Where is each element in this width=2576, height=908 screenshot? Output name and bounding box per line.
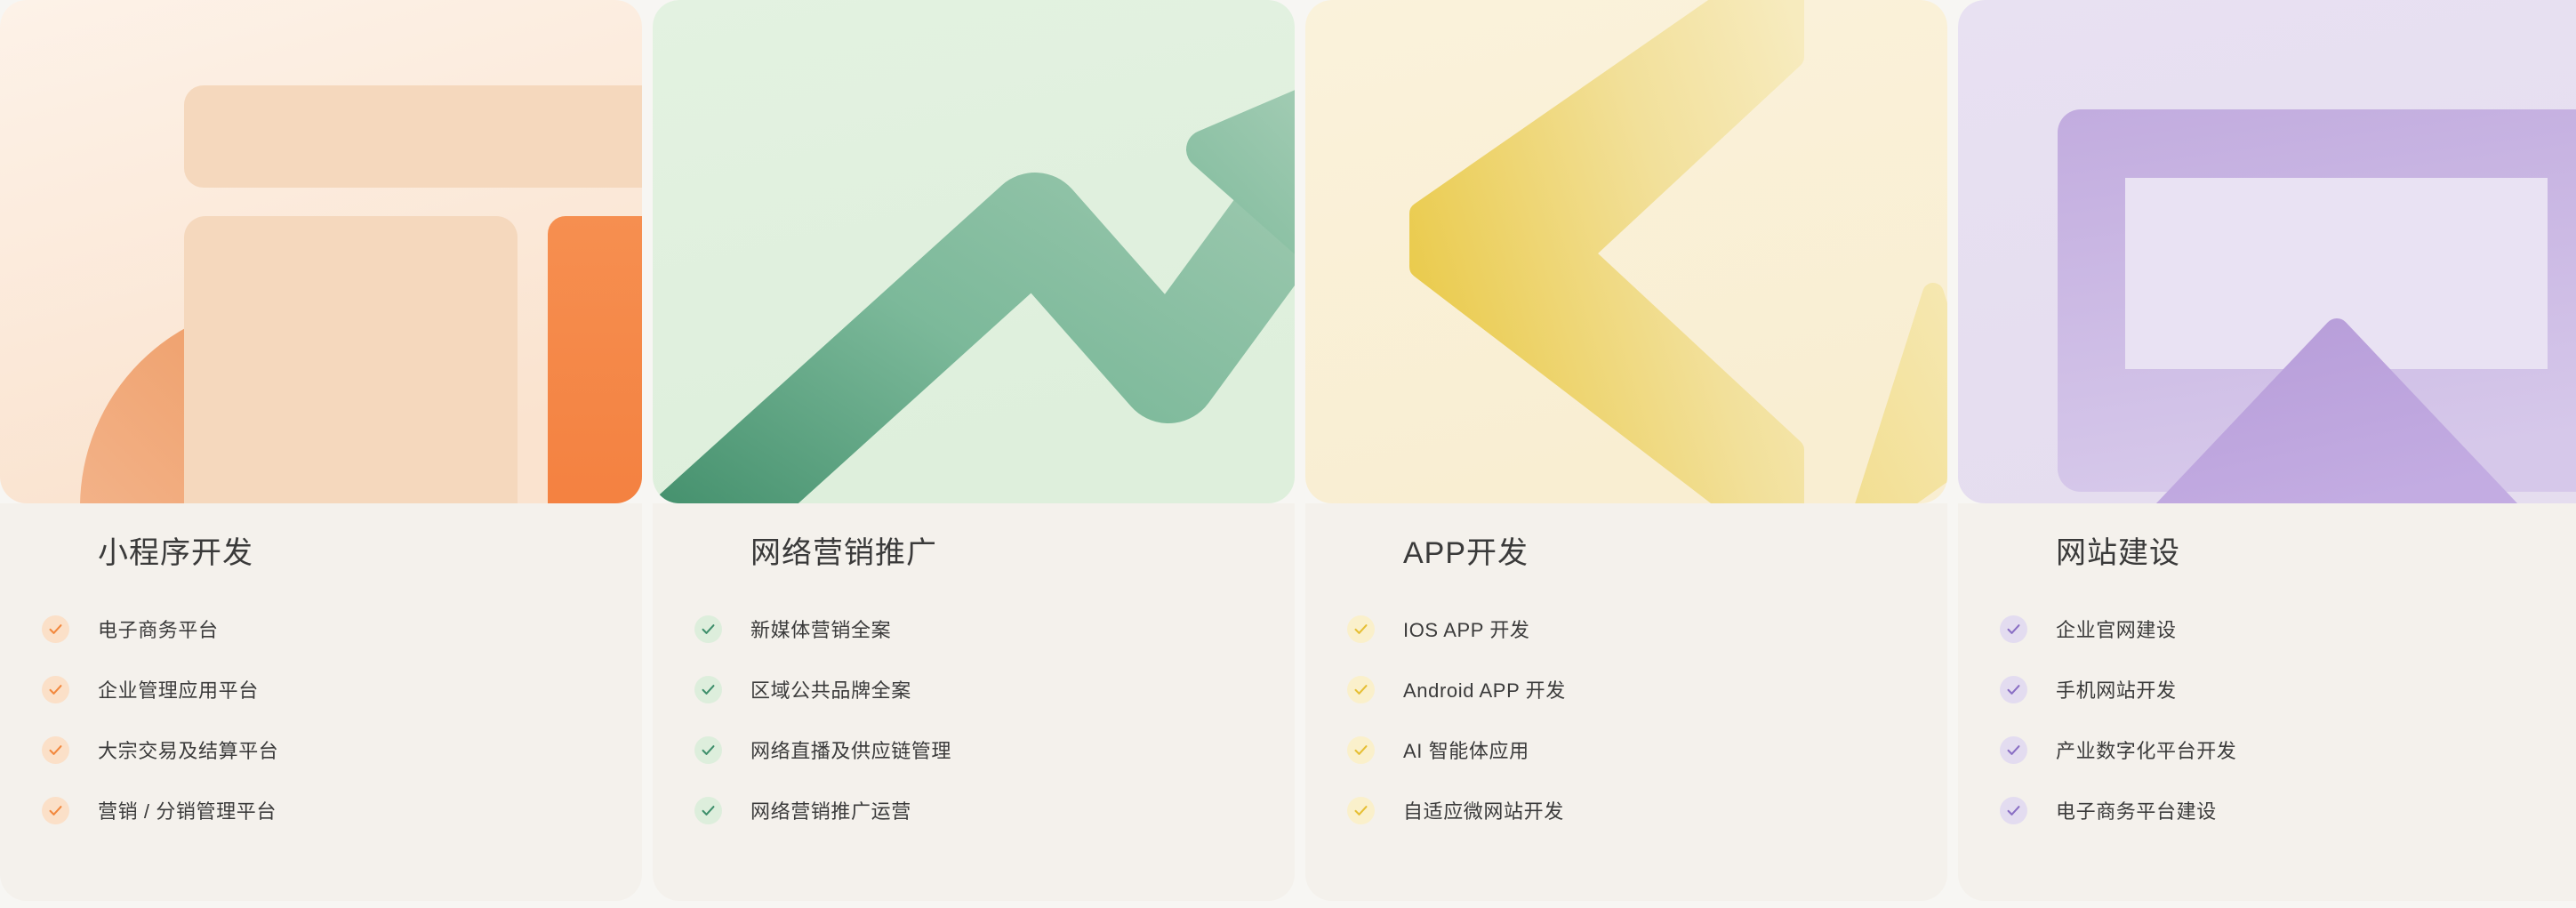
feature-label: AI 智能体应用 (1403, 735, 1529, 764)
card-title: 小程序开发 (98, 535, 642, 572)
feature-list: 电子商务平台 企业管理应用平台 大宗交易及结算平台 (0, 613, 642, 827)
feature-label: 自适应微网站开发 (1403, 796, 1564, 824)
card-illustration-code-chevron (1305, 0, 1947, 503)
feature-label: 新媒体营销全案 (750, 615, 891, 643)
feature-item[interactable]: Android APP 开发 (1305, 673, 1947, 706)
check-icon (1347, 615, 1375, 643)
card-body: APP开发 IOS APP 开发 Android APP 开发 (1305, 503, 1947, 901)
feature-label: 电子商务平台建设 (2056, 796, 2217, 824)
card-body: 小程序开发 电子商务平台 企业管理应用平台 (0, 503, 642, 901)
service-card-network-marketing[interactable]: 网络营销推广 新媒体营销全案 区域公共品牌全案 (653, 0, 1295, 901)
feature-item[interactable]: 网络直播及供应链管理 (653, 734, 1295, 767)
feature-label: 企业管理应用平台 (98, 675, 259, 703)
feature-item[interactable]: AI 智能体应用 (1305, 734, 1947, 767)
service-card-app-development[interactable]: APP开发 IOS APP 开发 Android APP 开发 (1305, 0, 1947, 901)
feature-label: 手机网站开发 (2056, 675, 2177, 703)
feature-label: 区域公共品牌全案 (750, 675, 911, 703)
check-icon (42, 797, 69, 824)
feature-item[interactable]: 自适应微网站开发 (1305, 794, 1947, 827)
check-icon (694, 736, 722, 764)
feature-item[interactable]: 电子商务平台 (0, 613, 642, 646)
check-icon (2000, 615, 2027, 643)
feature-label: 营销 / 分销管理平台 (98, 796, 277, 824)
check-icon (1347, 797, 1375, 824)
service-card-website-construction[interactable]: 网站建设 企业官网建设 手机网站开发 (1958, 0, 2576, 901)
check-icon (694, 797, 722, 824)
check-icon (1347, 676, 1375, 703)
feature-list: 企业官网建设 手机网站开发 产业数字化平台开发 (1958, 613, 2576, 827)
check-icon (42, 736, 69, 764)
feature-label: 大宗交易及结算平台 (98, 735, 278, 764)
feature-item[interactable]: 企业官网建设 (1958, 613, 2576, 646)
feature-label: Android APP 开发 (1403, 675, 1566, 703)
feature-label: 电子商务平台 (98, 615, 219, 643)
check-icon (2000, 797, 2027, 824)
feature-list: 新媒体营销全案 区域公共品牌全案 网络直播及供应链管理 (653, 613, 1295, 827)
feature-item[interactable]: 大宗交易及结算平台 (0, 734, 642, 767)
check-icon (1347, 736, 1375, 764)
service-cards-row: 小程序开发 电子商务平台 企业管理应用平台 (0, 0, 2576, 908)
check-icon (694, 615, 722, 643)
feature-label: 企业官网建设 (2056, 615, 2177, 643)
check-icon (2000, 736, 2027, 764)
check-icon (2000, 676, 2027, 703)
check-icon (42, 615, 69, 643)
card-body: 网站建设 企业官网建设 手机网站开发 (1958, 503, 2576, 901)
feature-label: 产业数字化平台开发 (2056, 735, 2236, 764)
check-icon (42, 676, 69, 703)
card-title: 网站建设 (2056, 535, 2576, 572)
feature-label: 网络直播及供应链管理 (750, 735, 951, 764)
feature-item[interactable]: 新媒体营销全案 (653, 613, 1295, 646)
feature-item[interactable]: 网络营销推广运营 (653, 794, 1295, 827)
feature-label: 网络营销推广运营 (750, 796, 911, 824)
feature-item[interactable]: IOS APP 开发 (1305, 613, 1947, 646)
feature-list: IOS APP 开发 Android APP 开发 AI 智能体应用 (1305, 613, 1947, 827)
feature-item[interactable]: 手机网站开发 (1958, 673, 2576, 706)
feature-item[interactable]: 企业管理应用平台 (0, 673, 642, 706)
check-icon (694, 676, 722, 703)
card-illustration-layout-blocks (0, 0, 642, 503)
feature-item[interactable]: 区域公共品牌全案 (653, 673, 1295, 706)
service-card-mini-program[interactable]: 小程序开发 电子商务平台 企业管理应用平台 (0, 0, 642, 901)
card-title: 网络营销推广 (750, 535, 1295, 572)
feature-label: IOS APP 开发 (1403, 615, 1530, 643)
feature-item[interactable]: 电子商务平台建设 (1958, 794, 2576, 827)
card-body: 网络营销推广 新媒体营销全案 区域公共品牌全案 (653, 503, 1295, 901)
card-title: APP开发 (1403, 535, 1947, 572)
feature-item[interactable]: 产业数字化平台开发 (1958, 734, 2576, 767)
card-illustration-monitor-airplay (1958, 0, 2576, 503)
feature-item[interactable]: 营销 / 分销管理平台 (0, 794, 642, 827)
card-illustration-trending-up-arrow (653, 0, 1295, 503)
